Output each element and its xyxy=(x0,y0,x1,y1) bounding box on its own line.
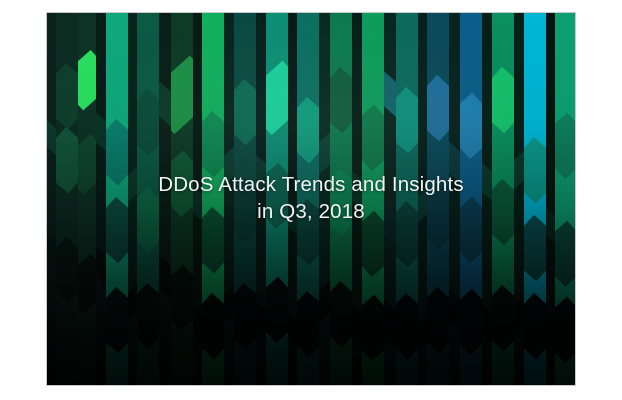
art-chevron-band xyxy=(362,105,384,172)
art-chevron-band xyxy=(266,277,288,344)
art-chevron-band xyxy=(330,67,352,134)
art-chevron-band xyxy=(297,97,319,164)
art-chevron-band xyxy=(137,89,159,156)
art-chevron-band xyxy=(492,67,514,134)
art-chevron-band xyxy=(427,75,449,142)
document-page: DDoS Attack Trends and Insights in Q3, 2… xyxy=(0,0,622,400)
art-chevron-band xyxy=(362,295,384,362)
art-chevron-band xyxy=(396,87,418,154)
art-chevron-band xyxy=(137,283,159,350)
slide-title-line-1: DDoS Attack Trends and Insights xyxy=(47,171,575,198)
presentation-slide: DDoS Attack Trends and Insights in Q3, 2… xyxy=(46,12,576,386)
slide-title: DDoS Attack Trends and Insights in Q3, 2… xyxy=(47,171,575,225)
art-chevron-band xyxy=(555,221,575,288)
art-chevron-band xyxy=(555,297,575,364)
art-chevron-band xyxy=(555,113,575,180)
art-chevron-band xyxy=(234,283,256,350)
art-chevron-band xyxy=(330,281,352,348)
art-chevron-band xyxy=(427,287,449,354)
art-chevron-band xyxy=(492,285,514,352)
art-chevron-band xyxy=(460,93,482,160)
art-chevron-band xyxy=(106,287,128,354)
art-chevron-band xyxy=(524,293,546,360)
art-chevron-band xyxy=(171,265,193,332)
art-chevron-band xyxy=(460,289,482,356)
slide-title-line-2: in Q3, 2018 xyxy=(47,198,575,225)
art-chevron-band xyxy=(202,293,224,360)
art-chevron-band xyxy=(297,291,319,358)
art-chevron-band xyxy=(234,79,256,146)
art-chevron-band xyxy=(56,237,78,304)
art-chevron-band xyxy=(202,111,224,178)
art-chevron-band xyxy=(56,63,78,130)
art-chevron-band xyxy=(396,293,418,360)
